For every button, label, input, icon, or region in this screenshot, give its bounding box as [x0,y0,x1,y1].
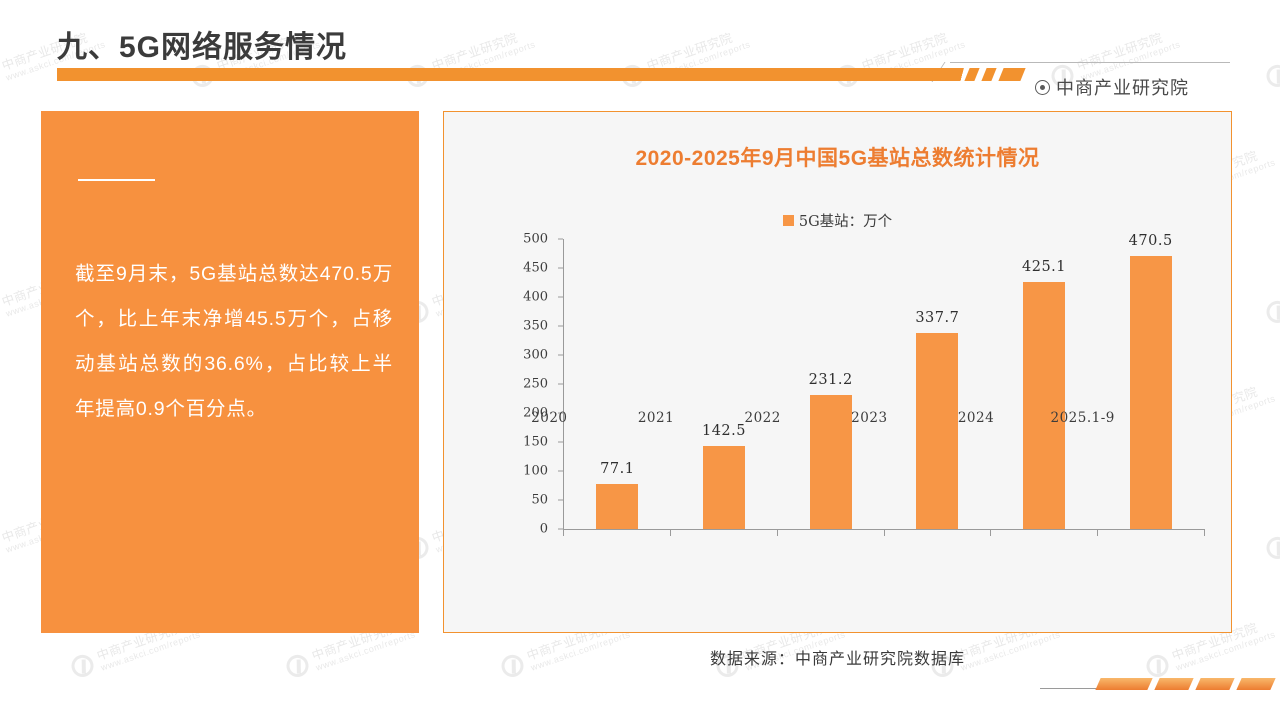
y-axis-tick-label: 50 [531,493,548,508]
y-axis-tick-label: 350 [523,319,548,334]
x-axis-labels: 202020212022202320242025.1-9 [496,410,1136,426]
watermark-logo-icon [284,652,312,680]
bar-rect[interactable] [703,446,745,529]
watermark-line-2: www.askci.com/reports [100,630,202,674]
watermark-logo-icon [0,62,1,90]
y-axis-tick-label: 250 [523,377,548,392]
bar-rect[interactable] [916,333,958,529]
page-title: 九、5G网络服务情况 [57,22,347,66]
bar-item[interactable]: 425.1 [991,239,1098,529]
x-axis-tick-mark [563,529,564,536]
bar-item[interactable]: 470.5 [1097,239,1204,529]
summary-text: 截至9月末，5G基站总数达470.5万个，比上年末净增45.5万个，占移动基站总… [75,252,393,432]
x-axis-tick-label: 2023 [816,410,923,426]
x-axis-tick-mark [1097,529,1098,536]
y-axis-tick-label: 450 [523,261,548,276]
panel-divider [78,179,155,181]
header-dash-icon [998,68,1025,81]
x-axis-tick-label: 2021 [603,410,710,426]
y-axis-tick-label: 100 [523,464,548,479]
bar-rect[interactable] [1130,256,1172,529]
bar-rect[interactable] [1023,282,1065,529]
x-axis-tick-mark [1204,529,1205,536]
bar-series: 77.1142.5231.2337.7425.1470.5 [564,239,1204,529]
bar-rect[interactable] [596,484,638,529]
x-axis-tick-mark [777,529,778,536]
footer-hairline [1040,688,1100,689]
x-axis-tick-mark [990,529,991,536]
y-axis-tick-mark [558,471,563,472]
header-hairline [950,62,1230,63]
header-dash-icon [981,68,996,81]
legend-swatch-icon [783,215,794,226]
watermark-logo-icon [0,534,1,562]
watermark-line-1: 中商产业研究院 [430,26,534,74]
bar-value-label: 231.2 [809,372,853,388]
y-axis-tick-mark [558,355,563,356]
bar-item[interactable]: 142.5 [671,239,778,529]
footer-dash-icon [1236,678,1275,690]
chart-card: 2020-2025年9月中国5G基站总数统计情况 5G基站：万个 5004504… [443,111,1232,633]
bar-value-label: 470.5 [1129,233,1173,249]
bar-item[interactable]: 337.7 [884,239,991,529]
legend-label: 5G基站：万个 [799,210,892,231]
y-axis-tick-mark [558,297,563,298]
x-axis-tick-mark [670,529,671,536]
x-axis-tick-label: 2024 [923,410,1030,426]
footer-dash-icon [1154,678,1193,690]
y-axis-tick-mark [558,384,563,385]
title-accent-bar [57,68,950,81]
y-axis-tick-label: 150 [523,435,548,450]
footer-dash-icon [1095,678,1152,690]
y-axis-tick-mark [558,500,563,501]
watermark-line-1: 中商产业研究院 [1075,26,1179,74]
y-axis-tick-mark [558,268,563,269]
x-axis-tick-mark [884,529,885,536]
y-axis-tick-mark [558,326,563,327]
x-axis-tick-label: 2025.1-9 [1029,410,1136,426]
brand-name: 中商产业研究院 [1056,74,1189,100]
y-axis-tick-mark [558,442,563,443]
watermark-logo-icon [0,298,1,326]
watermark-logo-icon [69,652,97,680]
footer-dash-icon [1195,678,1234,690]
chart-title: 2020-2025年9月中国5G基站总数统计情况 [444,142,1231,172]
bar-value-label: 425.1 [1022,259,1066,275]
y-axis-tick-label: 500 [523,232,548,247]
chart-legend: 5G基站：万个 [444,210,1231,231]
watermark-logo-icon [1264,534,1280,562]
source-note: 数据来源：中商产业研究院数据库 [443,645,1232,669]
y-axis: 500450400350300250200150100500 [512,239,558,529]
bar-value-label: 77.1 [600,461,634,477]
bar-item[interactable]: 231.2 [777,239,884,529]
x-axis-tick-label: 2020 [496,410,603,426]
brand-logo: 中商产业研究院 [1035,74,1189,100]
watermark-line-2: www.askci.com/reports [315,630,417,674]
bar-item[interactable]: 77.1 [564,239,671,529]
summary-panel: 截至9月末，5G基站总数达470.5万个，比上年末净增45.5万个，占移动基站总… [41,111,419,633]
watermark-logo-icon [1264,298,1280,326]
watermark-logo-icon [1264,62,1280,90]
bar-value-label: 337.7 [915,310,959,326]
target-dot-icon [1035,80,1050,95]
y-axis-tick-label: 300 [523,348,548,363]
y-axis-tick-label: 0 [540,522,548,537]
x-axis-tick-label: 2022 [709,410,816,426]
bar-chart-plot: 500450400350300250200150100500 77.1142.5… [512,239,1204,529]
watermark-line-1: 中商产业研究院 [645,26,749,74]
x-axis-ticks [563,529,1204,536]
y-axis-tick-label: 400 [523,290,548,305]
y-axis-tick-mark [558,239,563,240]
